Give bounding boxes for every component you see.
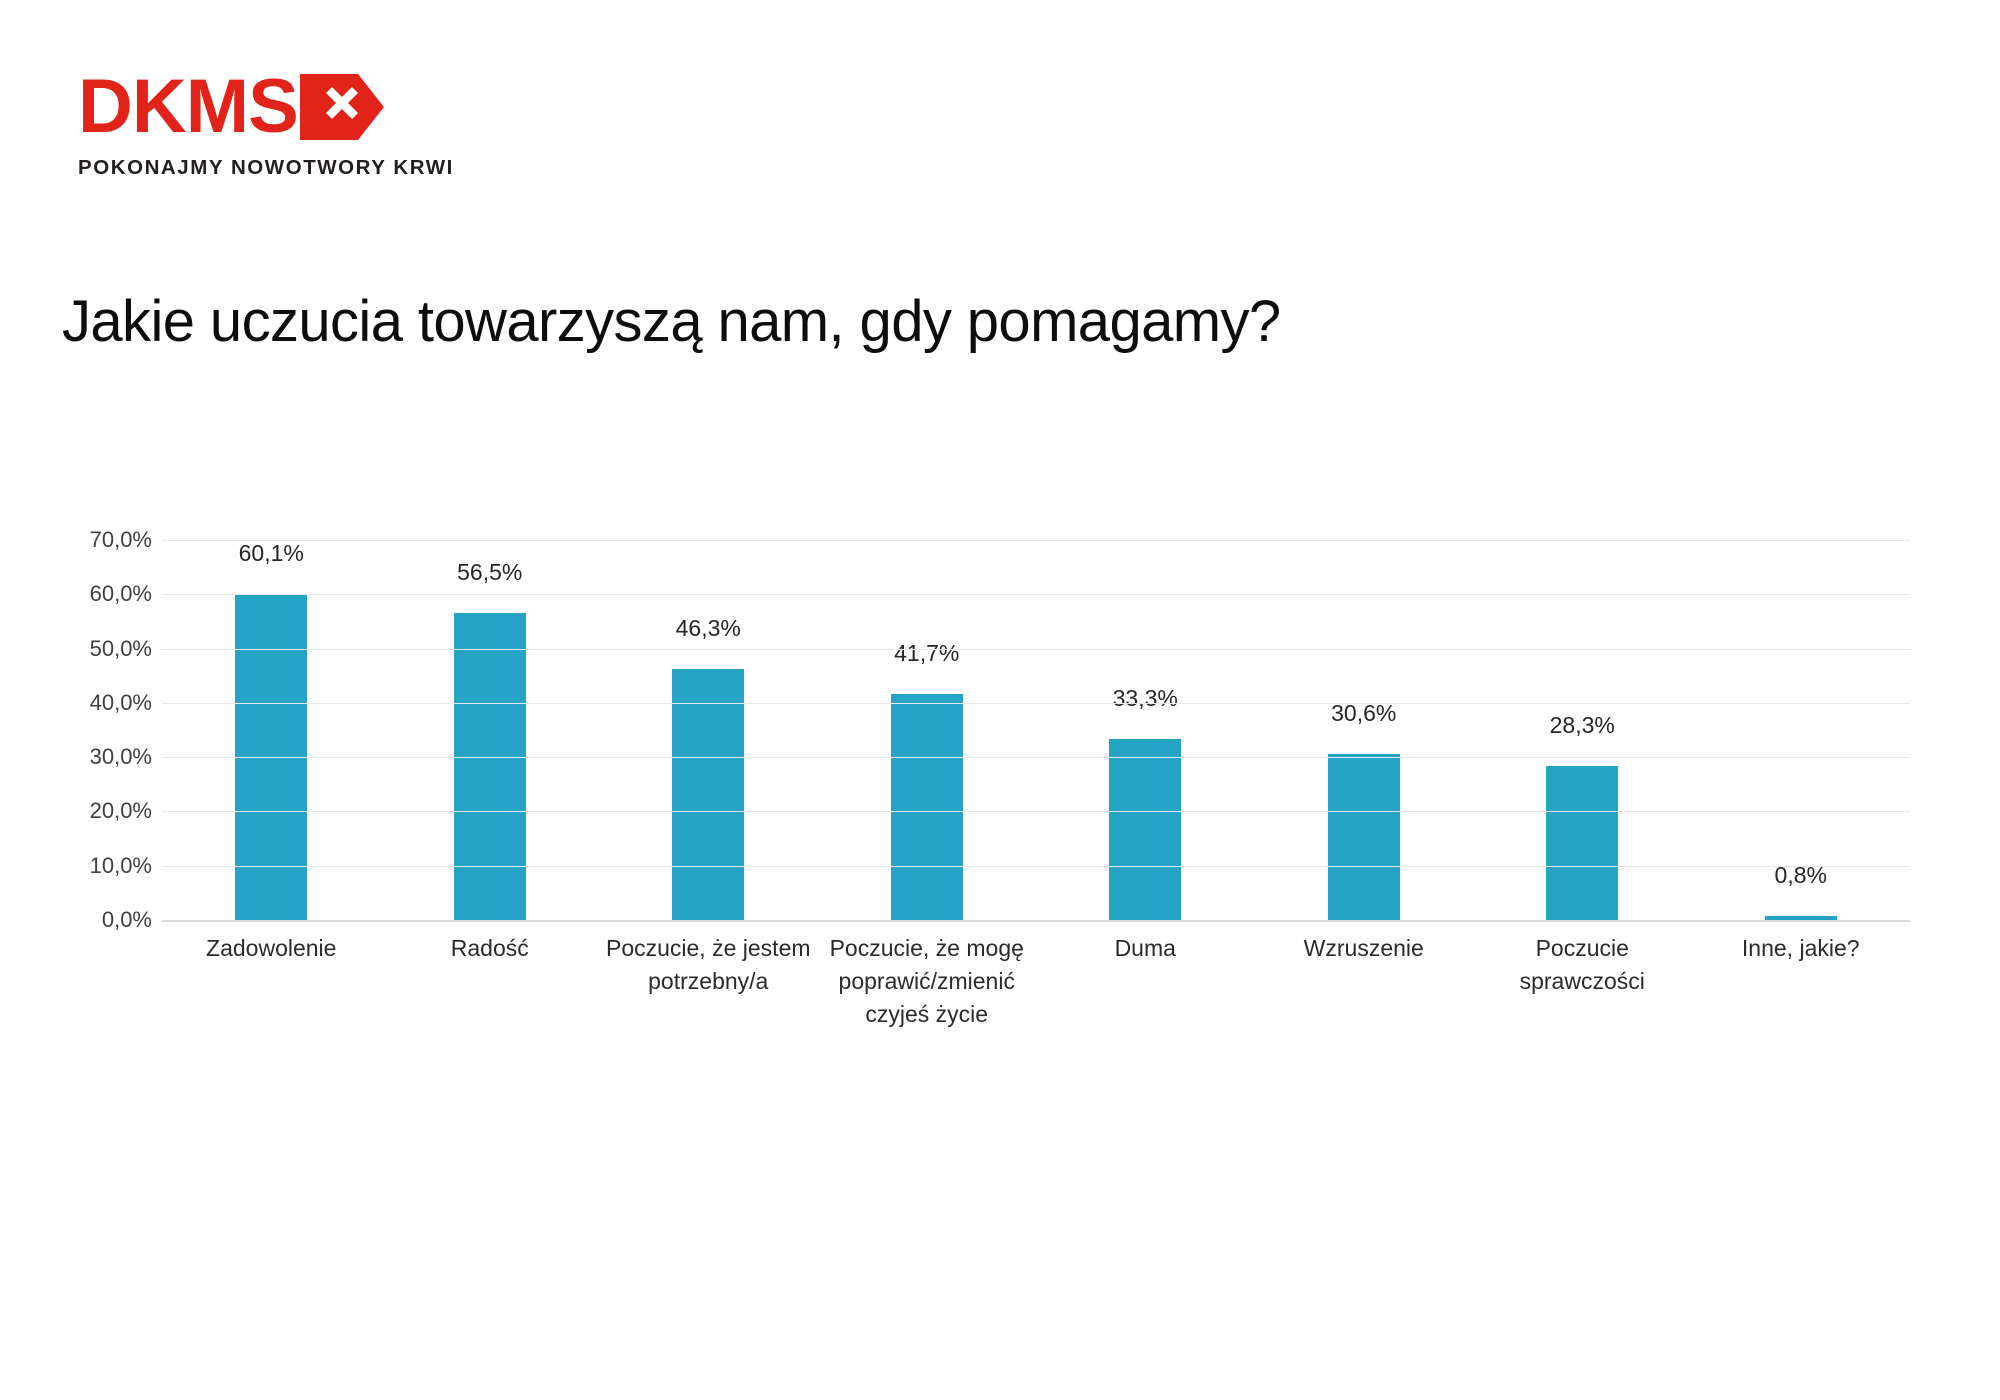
logo-tagline: POKONAJMY NOWOTWORY KRWI — [78, 156, 498, 180]
x-axis-label-line: poprawić/zmienić — [820, 965, 1035, 998]
x-axis-label-line: Duma — [1038, 932, 1253, 965]
bar-slot: 46,3% — [599, 540, 818, 920]
bar[interactable] — [1328, 754, 1400, 920]
x-axis-label-line: Wzruszenie — [1257, 932, 1472, 965]
y-axis-tick-label: 50,0% — [90, 636, 152, 662]
slide: DKMS POKONAJMY NOWOTWORY KRWI Jakie uczu… — [0, 0, 2000, 1400]
x-axis-label-line: czyjeś życie — [820, 998, 1035, 1031]
x-axis-category-label: Inne, jakie? — [1692, 932, 1911, 1031]
bar-value-label: 30,6% — [1331, 700, 1396, 727]
y-axis-tick-label: 30,0% — [90, 744, 152, 770]
x-axis-label-line: Poczucie, że jestem — [601, 932, 816, 965]
gridline — [162, 866, 1910, 867]
bar-value-label: 60,1% — [239, 540, 304, 567]
bar-slot: 30,6% — [1255, 540, 1474, 920]
page-title: Jakie uczucia towarzyszą nam, gdy pomaga… — [62, 288, 1281, 355]
gridline — [162, 811, 1910, 812]
x-axis-label-line: potrzebny/a — [601, 965, 816, 998]
gridline — [162, 594, 1910, 595]
bar-slot: 0,8% — [1692, 540, 1911, 920]
bar[interactable] — [672, 669, 744, 920]
dkms-logo: DKMS POKONAJMY NOWOTWORY KRWI — [78, 70, 498, 180]
x-axis-category-label: Radość — [381, 932, 600, 1031]
plot-area: 60,1%56,5%46,3%41,7%33,3%30,6%28,3%0,8% — [162, 540, 1910, 920]
bar[interactable] — [1546, 766, 1618, 920]
bar[interactable] — [891, 694, 963, 920]
x-axis-category-label: Poczucie, że jestempotrzebny/a — [599, 932, 818, 1031]
gridline — [162, 540, 1910, 541]
x-axis-label-line: Inne, jakie? — [1694, 932, 1909, 965]
bar-slot: 41,7% — [818, 540, 1037, 920]
gridline — [162, 703, 1910, 704]
gridline — [162, 757, 1910, 758]
logo-arrow-badge-icon — [300, 74, 384, 140]
x-axis-category-label: Zadowolenie — [162, 932, 381, 1031]
y-axis-tick-label: 40,0% — [90, 690, 152, 716]
x-axis: ZadowolenieRadośćPoczucie, że jestempotr… — [162, 932, 1910, 1031]
bar[interactable] — [1109, 739, 1181, 920]
bar-chart: 70,0%60,0%50,0%40,0%30,0%20,0%10,0%0,0% … — [70, 540, 1930, 1100]
x-axis-category-label: Poczucie, że mogępoprawić/zmienićczyjeś … — [818, 932, 1037, 1031]
x-axis-label-line: Poczucie — [1475, 932, 1690, 965]
bar-value-label: 41,7% — [894, 640, 959, 667]
x-axis-label-line: Zadowolenie — [164, 932, 379, 965]
x-axis-category-label: Poczuciesprawczości — [1473, 932, 1692, 1031]
y-axis: 70,0%60,0%50,0%40,0%30,0%20,0%10,0%0,0% — [70, 540, 162, 920]
gridline — [162, 649, 1910, 650]
y-axis-tick-label: 70,0% — [90, 527, 152, 553]
y-axis-tick-label: 20,0% — [90, 798, 152, 824]
bar-value-label: 46,3% — [676, 615, 741, 642]
x-axis-label-line: Radość — [383, 932, 598, 965]
bar-value-label: 28,3% — [1550, 712, 1615, 739]
y-axis-tick-label: 10,0% — [90, 853, 152, 879]
x-axis-label-line: sprawczości — [1475, 965, 1690, 998]
x-axis-category-label: Wzruszenie — [1255, 932, 1474, 1031]
bar-value-label: 56,5% — [457, 559, 522, 586]
bar-value-label: 33,3% — [1113, 685, 1178, 712]
y-axis-tick-label: 60,0% — [90, 581, 152, 607]
axis-baseline — [162, 920, 1910, 922]
bar-slot: 56,5% — [381, 540, 600, 920]
bar[interactable] — [454, 613, 526, 920]
x-axis-label-line: Poczucie, że mogę — [820, 932, 1035, 965]
bar-slot: 28,3% — [1473, 540, 1692, 920]
logo-mark: DKMS — [78, 70, 498, 144]
x-axis-category-label: Duma — [1036, 932, 1255, 1031]
y-axis-tick-label: 0,0% — [102, 907, 152, 933]
logo-wordmark: DKMS — [78, 70, 298, 144]
bar-slot: 33,3% — [1036, 540, 1255, 920]
bar-slot: 60,1% — [162, 540, 381, 920]
bars-container: 60,1%56,5%46,3%41,7%33,3%30,6%28,3%0,8% — [162, 540, 1910, 920]
